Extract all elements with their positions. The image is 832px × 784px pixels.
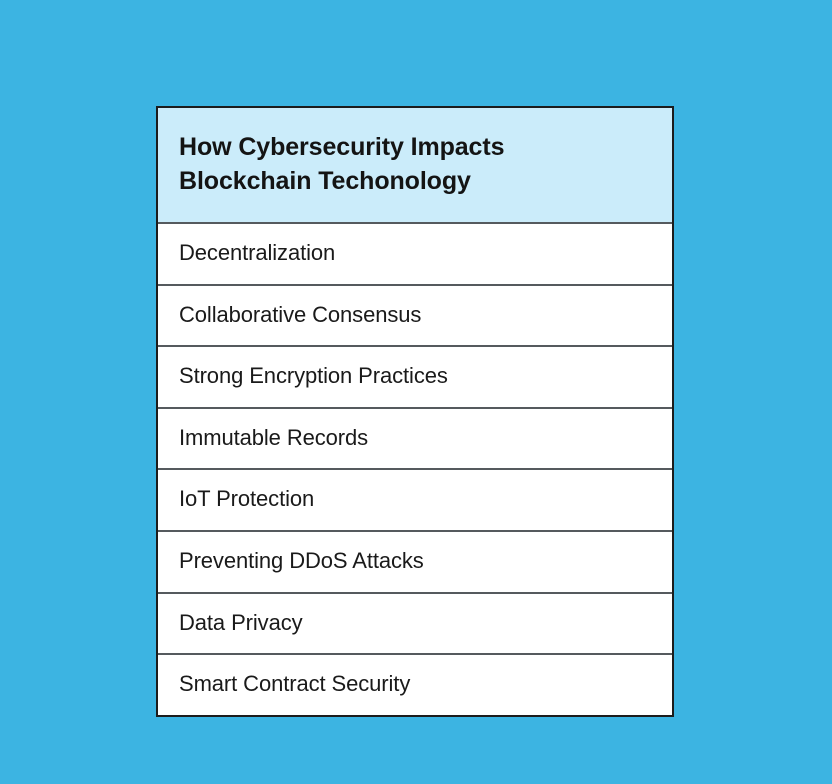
page-canvas: How Cybersecurity Impacts Blockchain Tec…: [0, 0, 832, 784]
row-label: Strong Encryption Practices: [179, 362, 448, 391]
table-row[interactable]: IoT Protection: [158, 470, 672, 532]
table-row[interactable]: Strong Encryption Practices: [158, 347, 672, 409]
row-label: IoT Protection: [179, 485, 314, 514]
row-label: Data Privacy: [179, 609, 303, 638]
table-title: How Cybersecurity Impacts Blockchain Tec…: [179, 130, 652, 198]
table-header: How Cybersecurity Impacts Blockchain Tec…: [158, 108, 672, 224]
table-row[interactable]: Collaborative Consensus: [158, 286, 672, 348]
row-label: Decentralization: [179, 239, 335, 268]
table-row[interactable]: Decentralization: [158, 224, 672, 286]
table-row[interactable]: Preventing DDoS Attacks: [158, 532, 672, 594]
row-label: Smart Contract Security: [179, 670, 410, 699]
row-label: Collaborative Consensus: [179, 301, 421, 330]
table-row[interactable]: Smart Contract Security: [158, 655, 672, 715]
row-label: Immutable Records: [179, 424, 368, 453]
table-row[interactable]: Data Privacy: [158, 594, 672, 656]
row-label: Preventing DDoS Attacks: [179, 547, 424, 576]
table-row[interactable]: Immutable Records: [158, 409, 672, 471]
cybersecurity-blockchain-table: How Cybersecurity Impacts Blockchain Tec…: [156, 106, 674, 717]
